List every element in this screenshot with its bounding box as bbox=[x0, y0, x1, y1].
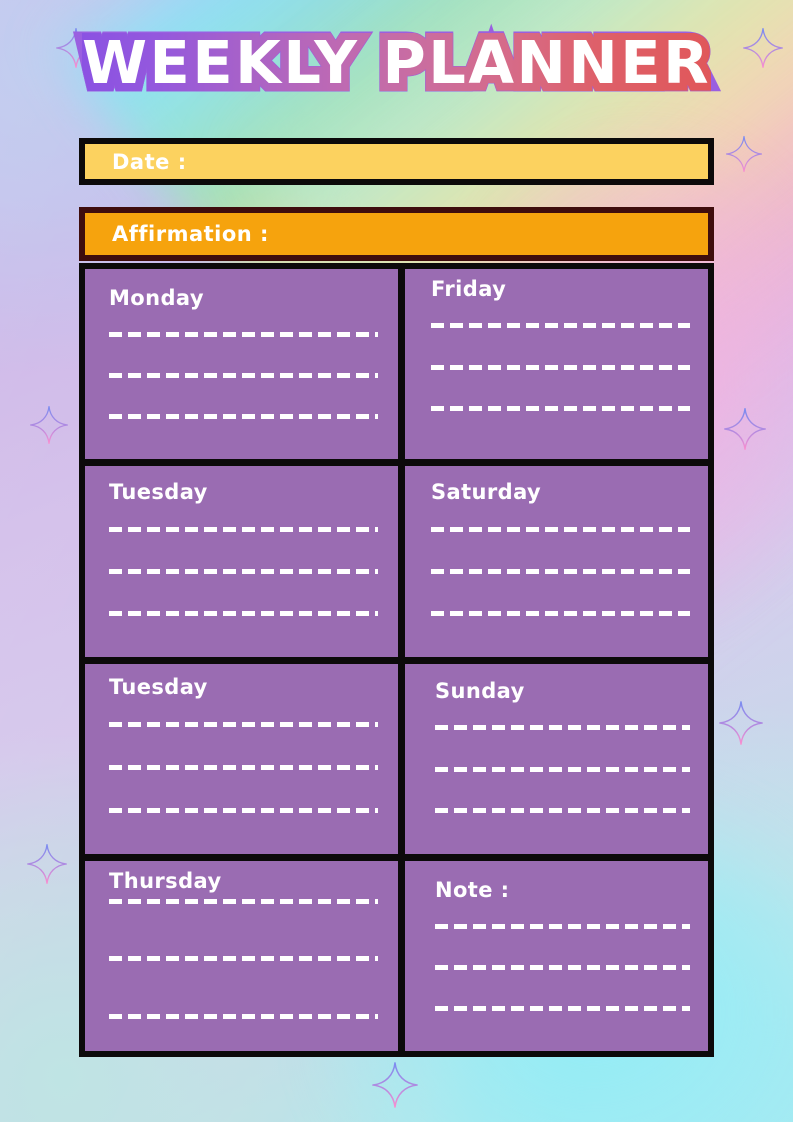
dashed-line[interactable] bbox=[109, 765, 378, 770]
dashed-line[interactable] bbox=[435, 725, 690, 730]
day-label-monday: Monday bbox=[109, 287, 378, 310]
day-label-tuesday: Tuesday bbox=[109, 481, 378, 504]
writing-lines-friday[interactable] bbox=[431, 305, 690, 443]
writing-lines-tuesday-duplicate[interactable] bbox=[109, 703, 378, 838]
dashed-line[interactable] bbox=[109, 414, 378, 419]
day-label-thursday: Thursday bbox=[109, 870, 378, 893]
page-title: WEEKLY PLANNER WEEKLY PLANNER WEEKLY PLA… bbox=[82, 33, 711, 92]
day-cell-saturday[interactable]: Saturday bbox=[405, 466, 708, 656]
dashed-line[interactable] bbox=[435, 808, 690, 813]
page-title-container: WEEKLY PLANNER WEEKLY PLANNER WEEKLY PLA… bbox=[0, 33, 793, 119]
dashed-line[interactable] bbox=[109, 956, 378, 961]
dashed-line[interactable] bbox=[435, 767, 690, 772]
dashed-line[interactable] bbox=[435, 1006, 690, 1011]
dashed-line[interactable] bbox=[109, 569, 378, 574]
day-cell-monday[interactable]: Monday bbox=[85, 269, 398, 459]
date-label: Date : bbox=[112, 150, 187, 174]
writing-lines-saturday[interactable] bbox=[431, 508, 690, 640]
day-cell-friday[interactable]: Friday bbox=[405, 269, 708, 459]
dashed-line[interactable] bbox=[431, 611, 690, 616]
dashed-line[interactable] bbox=[109, 1014, 378, 1019]
writing-lines-note[interactable] bbox=[435, 906, 690, 1035]
dashed-line[interactable] bbox=[109, 722, 378, 727]
dashed-line[interactable] bbox=[109, 611, 378, 616]
writing-lines-sunday[interactable] bbox=[435, 707, 690, 838]
writing-lines-thursday[interactable] bbox=[109, 897, 378, 1035]
dashed-line[interactable] bbox=[109, 899, 378, 904]
date-field[interactable]: Date : bbox=[79, 138, 714, 185]
dashed-line[interactable] bbox=[431, 569, 690, 574]
dashed-line[interactable] bbox=[109, 373, 378, 378]
day-cell-tuesday[interactable]: Tuesday bbox=[85, 466, 398, 656]
day-label-tuesday-duplicate: Tuesday bbox=[109, 676, 378, 699]
dashed-line[interactable] bbox=[431, 527, 690, 532]
affirmation-field[interactable]: Affirmation : bbox=[79, 207, 714, 261]
dashed-line[interactable] bbox=[109, 332, 378, 337]
dashed-line[interactable] bbox=[431, 323, 690, 328]
dashed-line[interactable] bbox=[435, 965, 690, 970]
day-label-saturday: Saturday bbox=[431, 481, 690, 504]
planner-page: WEEKLY PLANNER WEEKLY PLANNER WEEKLY PLA… bbox=[0, 0, 793, 1122]
dashed-line[interactable] bbox=[431, 406, 690, 411]
day-label-sunday: Sunday bbox=[435, 680, 690, 703]
page-title-text: WEEKLY PLANNER bbox=[82, 28, 711, 97]
dashed-line[interactable] bbox=[109, 808, 378, 813]
writing-lines-tuesday[interactable] bbox=[109, 508, 378, 640]
day-cell-tuesday-duplicate[interactable]: Tuesday bbox=[85, 664, 398, 854]
day-label-friday: Friday bbox=[431, 278, 690, 301]
affirmation-label: Affirmation : bbox=[112, 222, 269, 246]
day-cell-thursday[interactable]: Thursday bbox=[85, 861, 398, 1051]
writing-lines-monday[interactable] bbox=[109, 314, 378, 443]
dashed-line[interactable] bbox=[431, 365, 690, 370]
planner-grid: Monday Friday Tuesday bbox=[79, 263, 714, 1057]
note-label: Note : bbox=[435, 879, 690, 902]
note-cell[interactable]: Note : bbox=[405, 861, 708, 1051]
dashed-line[interactable] bbox=[435, 924, 690, 929]
dashed-line[interactable] bbox=[109, 527, 378, 532]
day-cell-sunday[interactable]: Sunday bbox=[405, 664, 708, 854]
